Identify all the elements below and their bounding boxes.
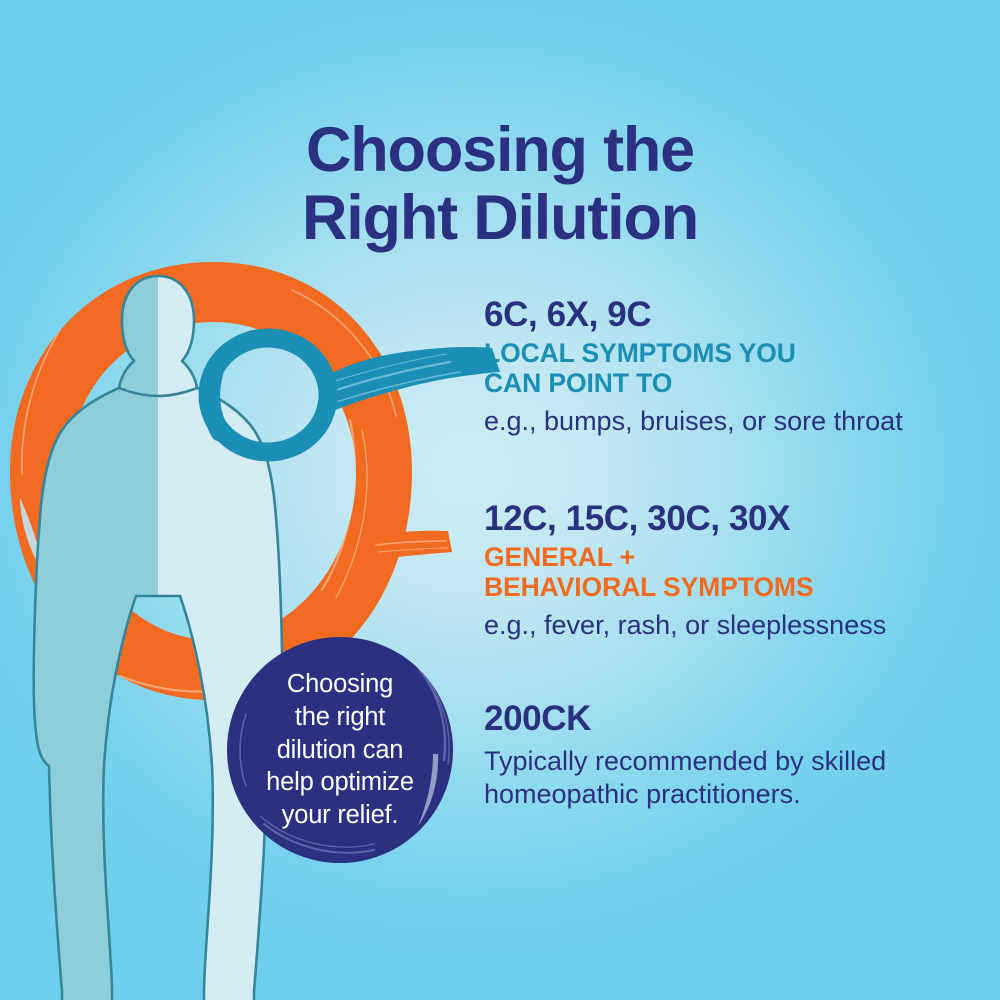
dilution-block-general: 12C, 15C, 30C, 30X GENERAL + BEHAVIORAL …	[484, 500, 984, 642]
dilution-description: e.g., bumps, bruises, or sore throat	[484, 405, 984, 438]
dilution-description-line-1: e.g., bumps, bruises, or sore throat	[484, 405, 984, 438]
title-line-2: Right Dilution	[0, 184, 1000, 252]
dilution-description-line-2: homeopathic practitioners.	[484, 778, 984, 811]
page-title: Choosing the Right Dilution	[0, 116, 1000, 252]
badge-line-2: the right	[295, 701, 385, 734]
badge-line-5: your relief.	[282, 799, 399, 832]
dilution-block-200ck: 200CK Typically recommended by skilled h…	[484, 700, 984, 811]
badge-text: Choosing the right dilution can help opt…	[224, 634, 456, 866]
dilution-description-line-1: Typically recommended by skilled	[484, 745, 984, 778]
dilution-subtitle-line-1: GENERAL +	[484, 542, 984, 572]
dilution-description: Typically recommended by skilled homeopa…	[484, 745, 984, 811]
highlight-badge: Choosing the right dilution can help opt…	[224, 634, 456, 866]
dilution-block-local: 6C, 6X, 9C LOCAL SYMPTOMS YOU CAN POINT …	[484, 296, 984, 438]
dilution-heading: 6C, 6X, 9C	[484, 296, 984, 334]
badge-line-4: help optimize	[266, 766, 414, 799]
badge-line-1: Choosing	[287, 668, 393, 701]
dilution-description-line-1: e.g., fever, rash, or sleeplessness	[484, 609, 984, 642]
dilution-subtitle-line-2: BEHAVIORAL SYMPTOMS	[484, 572, 984, 602]
dilution-subtitle-line-1: LOCAL SYMPTOMS YOU	[484, 338, 984, 368]
orange-brush-pointer	[368, 531, 452, 560]
dilution-subtitle: LOCAL SYMPTOMS YOU CAN POINT TO	[484, 338, 984, 398]
dilution-description: e.g., fever, rash, or sleeplessness	[484, 609, 984, 642]
dilution-subtitle: GENERAL + BEHAVIORAL SYMPTOMS	[484, 542, 984, 602]
infographic-poster: Choosing the right dilution can help opt…	[0, 0, 1000, 1000]
badge-line-3: dilution can	[277, 734, 404, 767]
title-line-1: Choosing the	[0, 116, 1000, 184]
dilution-list: 6C, 6X, 9C LOCAL SYMPTOMS YOU CAN POINT …	[484, 296, 984, 811]
dilution-heading: 12C, 15C, 30C, 30X	[484, 500, 984, 538]
dilution-heading: 200CK	[484, 700, 984, 738]
dilution-subtitle-line-2: CAN POINT TO	[484, 368, 984, 398]
